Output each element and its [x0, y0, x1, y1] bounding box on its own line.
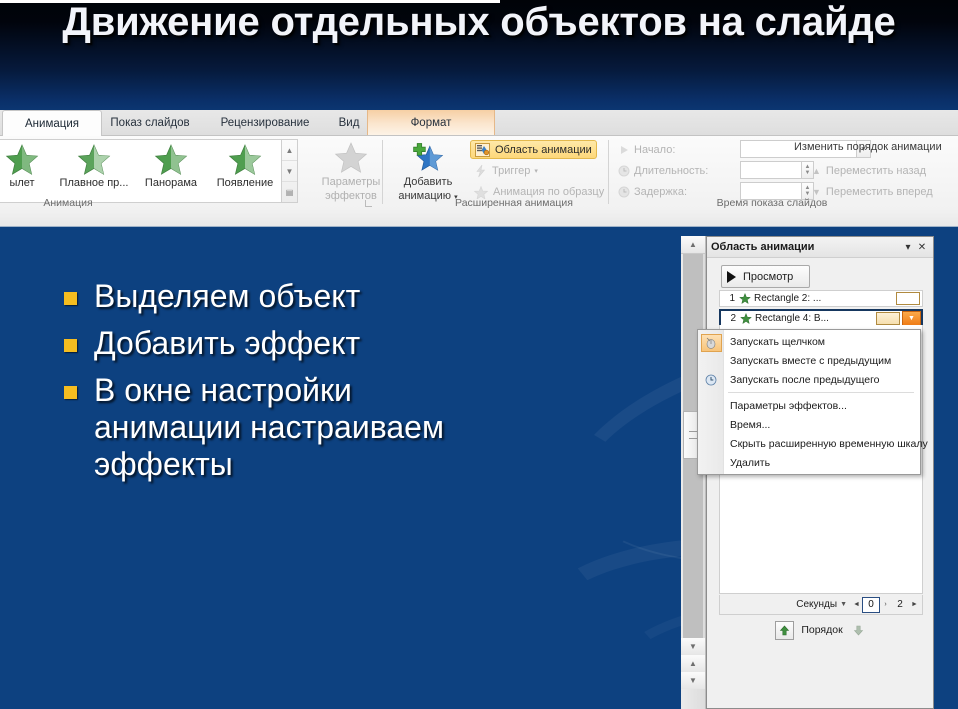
- timeline-prev-icon[interactable]: ◄: [851, 598, 862, 611]
- scroll-down-icon[interactable]: ▼: [681, 638, 705, 655]
- menu-item-label: Запускать вместе с предыдущим: [730, 355, 891, 367]
- menu-item-label: Удалить: [730, 457, 770, 469]
- duration-input[interactable]: [740, 161, 802, 179]
- menu-item-label: Скрыть расширенную временную шкалу: [730, 438, 928, 450]
- order-label: Порядок: [801, 624, 842, 636]
- animation-pane-button[interactable]: Область анимации: [470, 140, 597, 159]
- bullet-text: Выделяем объект: [94, 278, 360, 315]
- menu-item-timing[interactable]: Время...: [698, 415, 920, 434]
- star-plus-icon: [410, 140, 446, 174]
- timeline-bar[interactable]: [876, 312, 900, 325]
- gallery-item-label: Плавное пр...: [60, 177, 129, 189]
- menu-separator: [728, 392, 914, 393]
- start-row: Начало:: [618, 140, 675, 159]
- animation-item-list: 1 Rectangle 2: ... 2 Rectangle 4: B... ▼: [719, 290, 923, 302]
- timeline-bar[interactable]: [896, 292, 920, 305]
- gallery-item-panorama[interactable]: Панорама: [134, 142, 208, 198]
- move-back-button[interactable]: ▲ Переместить назад: [808, 161, 930, 180]
- animation-gallery[interactable]: ылет Плавное пр... П: [0, 139, 298, 203]
- tab-label: Показ слайдов: [110, 117, 189, 129]
- star-icon: [153, 142, 189, 176]
- list-item[interactable]: 1 Rectangle 2: ...: [719, 290, 923, 307]
- preview-label: Просмотр: [743, 271, 793, 283]
- play-icon: [618, 144, 630, 156]
- chevron-down-icon: ▾: [534, 167, 538, 175]
- duration-label: Длительность:: [634, 165, 708, 177]
- ribbon-group-advanced-animation: Добавить анимацию ▾ Область анимации: [384, 136, 610, 210]
- effect-options-label-1: Параметры: [322, 176, 381, 188]
- item-label: Rectangle 4: B...: [755, 313, 876, 324]
- menu-item-label: Время...: [730, 419, 770, 431]
- page-title: Движение отдельных объектов на слайде: [39, 2, 919, 43]
- tab-label: Формат: [411, 117, 452, 129]
- menu-item-start-with-previous[interactable]: Запускать вместе с предыдущим: [698, 351, 920, 370]
- gallery-item-vylet[interactable]: ылет: [0, 142, 59, 198]
- ribbon: Анимация Показ слайдов Рецензирование Ви…: [0, 110, 958, 227]
- close-icon[interactable]: ✕: [915, 240, 929, 254]
- group-label-advanced: Расширенная анимация: [424, 195, 604, 211]
- context-menu: Запускать щелчком Запускать вместе с пре…: [697, 329, 921, 475]
- clock-icon: [618, 186, 630, 198]
- menu-item-label: Запускать после предыдущего: [730, 374, 880, 386]
- ribbon-tab-strip: Анимация Показ слайдов Рецензирование Ви…: [0, 110, 958, 136]
- animation-dialog-launcher-icon[interactable]: [364, 199, 373, 208]
- arrow-up-icon[interactable]: [775, 621, 794, 640]
- tab-format[interactable]: Формат: [367, 110, 495, 135]
- trigger-button[interactable]: Триггер ▾: [470, 161, 542, 180]
- star-icon: [4, 142, 40, 176]
- list-item: Выделяем объект: [64, 278, 464, 315]
- animation-pane-icon: [475, 143, 490, 157]
- preview-button[interactable]: Просмотр: [721, 265, 810, 288]
- reorder-heading: Изменить порядок анимации: [794, 141, 942, 153]
- scroll-page-down-icon[interactable]: ▼: [681, 672, 705, 689]
- timeline-next-icon[interactable]: ►: [909, 598, 920, 611]
- menu-item-start-on-click[interactable]: Запускать щелчком: [698, 332, 920, 351]
- scroll-page-up-icon[interactable]: ▲: [681, 655, 705, 672]
- ribbon-group-animation: ылет Плавное пр... П: [0, 136, 380, 210]
- item-number: 2: [721, 313, 740, 324]
- animation-pane-window: ▲ ▼ ▲ ▼ Область анимации ▾ ✕ Просмотр 1: [681, 236, 958, 709]
- bullet-square-icon: [64, 292, 77, 305]
- gallery-scrollbar[interactable]: ▲ ▼ ▤: [281, 139, 298, 203]
- menu-item-remove[interactable]: Удалить: [698, 453, 920, 472]
- animation-pane: Область анимации ▾ ✕ Просмотр 1 Rectangl…: [706, 236, 934, 709]
- tab-slideshow[interactable]: Показ слайдов: [88, 110, 212, 135]
- tab-animation[interactable]: Анимация: [2, 110, 102, 137]
- item-label: Rectangle 2: ...: [754, 293, 896, 304]
- tab-label: Рецензирование: [221, 117, 310, 129]
- arrow-up-icon: ▲: [812, 166, 821, 176]
- animation-pane-title: Область анимации: [711, 241, 901, 253]
- gallery-more-icon[interactable]: ▤: [282, 182, 297, 202]
- menu-item-hide-advanced-timeline[interactable]: Скрыть расширенную временную шкалу: [698, 434, 920, 453]
- duration-spinner[interactable]: ▲▼: [740, 161, 814, 179]
- bullet-square-icon: [64, 339, 77, 352]
- list-item: Добавить эффект: [64, 325, 464, 362]
- arrow-down-icon[interactable]: [850, 622, 867, 639]
- bullet-text: Добавить эффект: [94, 325, 360, 362]
- start-label: Начало:: [634, 144, 675, 156]
- ribbon-group-timing: Начало: ▼ Длительность: ▲▼: [612, 136, 958, 210]
- group-label-timing: Время показа слайдов: [672, 195, 872, 211]
- duration-row: Длительность:: [618, 161, 708, 180]
- gallery-item-plavnoe[interactable]: Плавное пр...: [57, 142, 131, 198]
- group-label-animation: Анимация: [8, 195, 128, 211]
- chevron-down-icon[interactable]: ▾: [901, 240, 915, 254]
- clock-icon: [618, 165, 630, 177]
- star-green-icon: [739, 293, 751, 304]
- mouse-click-icon: [701, 334, 722, 352]
- effect-options-button[interactable]: Параметры эффектов: [315, 140, 387, 203]
- star-icon: [76, 142, 112, 176]
- gallery-item-label: Появление: [217, 177, 273, 189]
- move-back-label: Переместить назад: [826, 165, 926, 177]
- group-divider: [382, 140, 383, 204]
- tab-label: Вид: [339, 117, 360, 129]
- bullet-text: В окне настройки анимации настраиваем эф…: [94, 372, 464, 483]
- lightning-icon: [474, 164, 488, 178]
- add-animation-label-1: Добавить: [404, 176, 453, 188]
- timeline-units-combo[interactable]: Секунды ▼: [796, 599, 847, 610]
- tab-review[interactable]: Рецензирование: [196, 110, 334, 135]
- order-controls: Порядок: [719, 619, 923, 641]
- bullet-list: Выделяем объект Добавить эффект В окне н…: [64, 278, 464, 494]
- add-animation-button[interactable]: Добавить анимацию ▾: [392, 140, 464, 203]
- tab-label: Анимация: [25, 118, 79, 130]
- scroll-up-icon[interactable]: ▲: [681, 236, 705, 254]
- animation-pane-label: Область анимации: [495, 144, 592, 156]
- star-green-icon: [740, 313, 752, 324]
- timeline-units-label: Секунды: [796, 599, 837, 610]
- timeline-current-value[interactable]: 0: [862, 597, 880, 613]
- timeline-footer: Секунды ▼ ◄ 0 › 2 ►: [719, 595, 923, 615]
- title-area: Движение отдельных объектов на слайде: [0, 2, 958, 110]
- gallery-item-label: ылет: [9, 177, 34, 189]
- gallery-scroll-down-icon[interactable]: ▼: [282, 161, 297, 182]
- item-number: 1: [720, 293, 739, 304]
- group-divider: [608, 140, 609, 204]
- menu-item-label: Параметры эффектов...: [730, 400, 847, 412]
- animation-pane-titlebar: Область анимации ▾ ✕: [707, 237, 933, 258]
- play-icon: [727, 271, 736, 283]
- timeline-tick: ›: [880, 598, 891, 611]
- gallery-item-poyavlenie[interactable]: Появление: [208, 142, 282, 198]
- window-right-edge: [934, 236, 958, 709]
- menu-item-effect-options[interactable]: Параметры эффектов...: [698, 396, 920, 415]
- gallery-scroll-up-icon[interactable]: ▲: [282, 140, 297, 161]
- timeline-end-value: 2: [891, 599, 909, 610]
- menu-item-start-after-previous[interactable]: Запускать после предыдущего: [698, 370, 920, 389]
- bullet-square-icon: [64, 386, 77, 399]
- menu-item-label: Запускать щелчком: [730, 336, 825, 348]
- star-icon: [227, 142, 263, 176]
- list-item: В окне настройки анимации настраиваем эф…: [64, 372, 464, 483]
- chevron-down-icon: ▼: [840, 601, 847, 608]
- star-grey-icon: [333, 140, 369, 174]
- trigger-label: Триггер: [492, 165, 530, 177]
- ribbon-body: ылет Плавное пр... П: [0, 136, 958, 226]
- gallery-item-label: Панорама: [145, 177, 197, 189]
- clock-icon: [701, 372, 720, 388]
- caret-down-icon[interactable]: ▼: [902, 311, 921, 326]
